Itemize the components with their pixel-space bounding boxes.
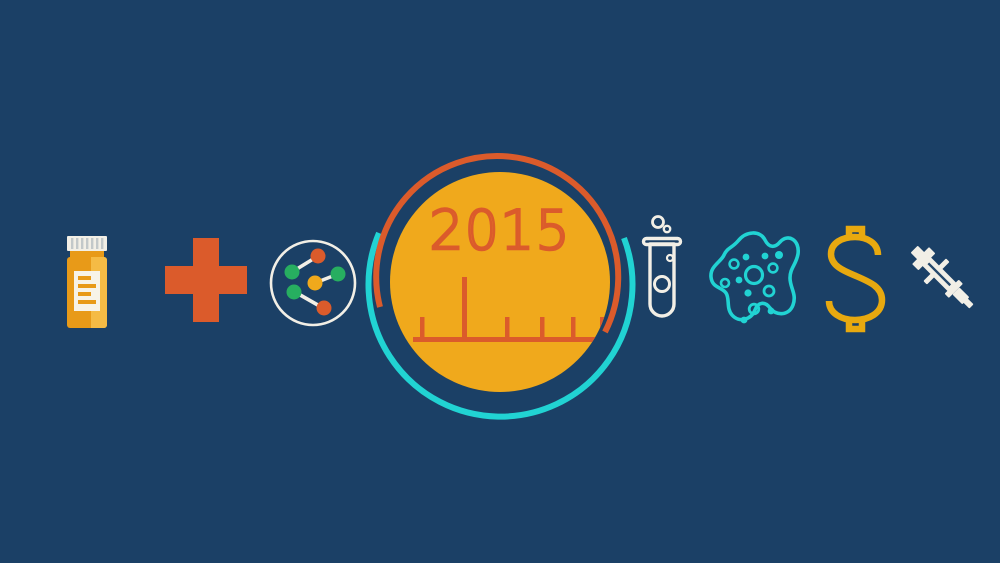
icon-row: Prescription pill bottle Medical cross [0,0,1000,563]
pill-bottle-icon: Prescription pill bottle [60,236,114,328]
syringe-icon: Vaccine syringe [908,238,984,324]
banner-canvas: Prescription pill bottle Medical cross [0,0,1000,563]
germ-cell-icon: Amoeba germ cell [708,228,802,334]
dollar-sign-icon: Healthcare cost dollar sign [822,228,890,334]
network-share-icon: Connected data network [268,238,358,328]
test-tube-icon: Laboratory test tube [640,210,690,332]
medical-cross-icon: Medical cross [165,238,247,322]
year-badge: 2015 [355,137,645,427]
year-label: 2015 [429,199,570,262]
